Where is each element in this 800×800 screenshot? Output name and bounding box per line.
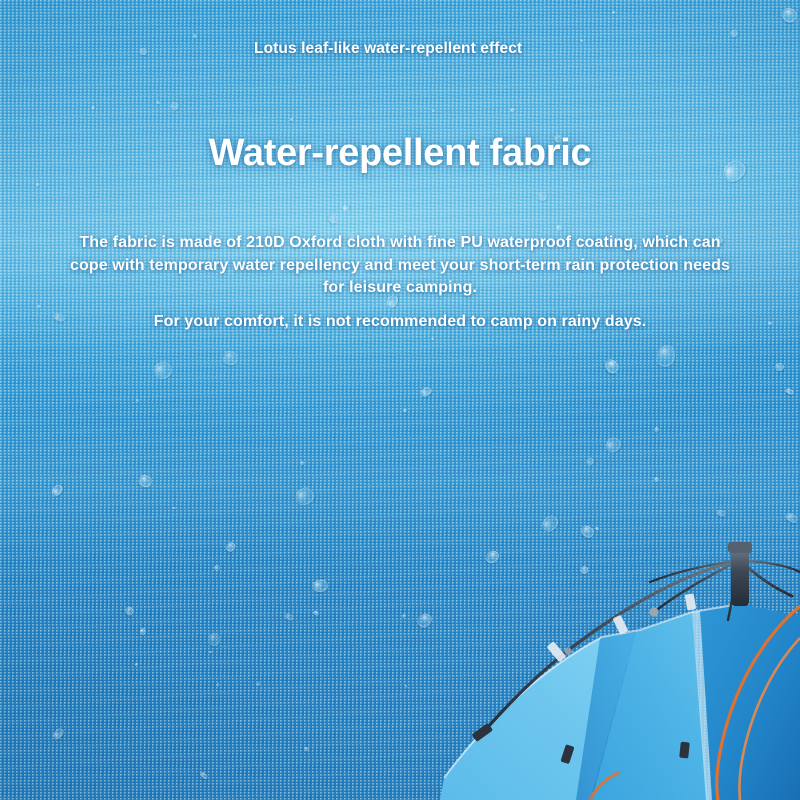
tent-panel-right bbox=[700, 604, 800, 800]
product-feature-image: Lotus leaf-like water-repellent effect W… bbox=[0, 0, 800, 800]
tent-hub-cap bbox=[728, 542, 752, 553]
pop-up-tent bbox=[440, 520, 800, 800]
feature-subtitle: Lotus leaf-like water-repellent effect bbox=[254, 38, 554, 59]
tent-hub bbox=[731, 548, 749, 606]
tent-pole-joint bbox=[649, 607, 658, 616]
feature-note: For your comfort, it is not recommended … bbox=[60, 311, 740, 333]
feature-description: The fabric is made of 210D Oxford cloth … bbox=[60, 232, 740, 300]
tent-pole-joint-2 bbox=[564, 647, 571, 654]
feature-title: Water-repellent fabric bbox=[0, 130, 800, 176]
